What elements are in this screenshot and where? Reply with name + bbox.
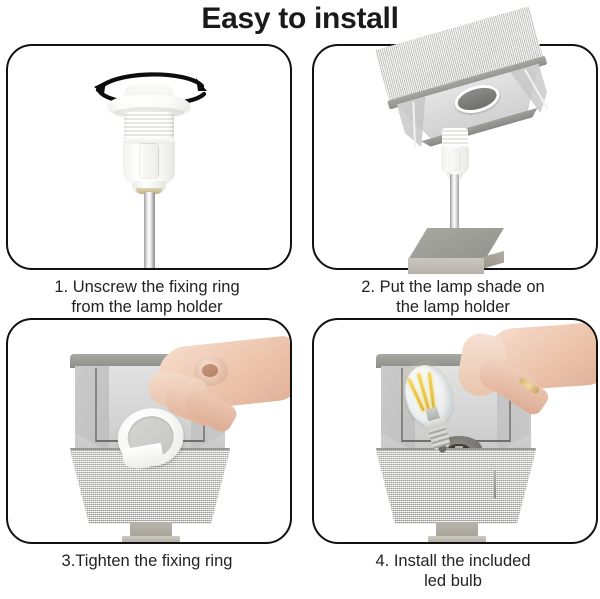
base-foot-plate xyxy=(122,536,180,542)
step-1-panel xyxy=(6,44,292,270)
step-4-caption-line-2: led bulb xyxy=(312,571,594,591)
fixing-ring xyxy=(113,402,193,475)
step-2-panel xyxy=(312,44,598,270)
step-4-caption: 4. Install the included led bulb xyxy=(312,551,594,591)
holder-ridge xyxy=(122,137,176,144)
holder-thread xyxy=(124,112,174,140)
lamp-holder xyxy=(104,82,194,212)
step-4-caption-line-1: 4. Install the included xyxy=(312,551,594,571)
hand xyxy=(442,326,598,466)
step-1-caption: 1. Unscrew the fixing ring from the lamp… xyxy=(6,277,288,317)
step-2-caption: 2. Put the lamp shade on the lamp holder xyxy=(312,277,594,317)
step-4-illustration xyxy=(314,320,596,542)
fingernail xyxy=(202,364,218,377)
holder-switch-tab xyxy=(450,150,460,170)
step-2-illustration xyxy=(314,46,596,268)
step-2: 2. Put the lamp shade on the lamp holder xyxy=(312,44,598,317)
holder-switch-tab xyxy=(140,144,158,178)
bulb-alignment-line xyxy=(494,470,496,498)
step-3-caption-line-1: 3.Tighten the fixing ring xyxy=(6,551,288,571)
step-1: 1. Unscrew the fixing ring from the lamp… xyxy=(6,44,292,317)
square-nickel-base-front xyxy=(408,258,484,274)
step-3-illustration xyxy=(8,320,290,542)
step-1-illustration xyxy=(8,46,290,268)
steps-grid: 1. Unscrew the fixing ring from the lamp… xyxy=(0,44,600,599)
step-3-panel xyxy=(6,318,292,544)
chrome-pole xyxy=(144,192,155,270)
step-4-panel xyxy=(312,318,598,544)
infographic-page: Easy to install xyxy=(0,0,600,599)
step-3: 3.Tighten the fixing ring xyxy=(6,318,292,571)
step-2-caption-line-2: the lamp holder xyxy=(312,297,594,317)
step-3-caption: 3.Tighten the fixing ring xyxy=(6,551,288,571)
holder-thread xyxy=(442,128,468,148)
shade-seam-left xyxy=(95,368,97,442)
base-foot-plate xyxy=(428,536,486,542)
step-2-caption-line-1: 2. Put the lamp shade on xyxy=(312,277,594,297)
step-1-caption-line-2: from the lamp holder xyxy=(6,297,288,317)
step-4: 4. Install the included led bulb xyxy=(312,318,598,591)
step-1-caption-line-1: 1. Unscrew the fixing ring xyxy=(6,277,288,297)
